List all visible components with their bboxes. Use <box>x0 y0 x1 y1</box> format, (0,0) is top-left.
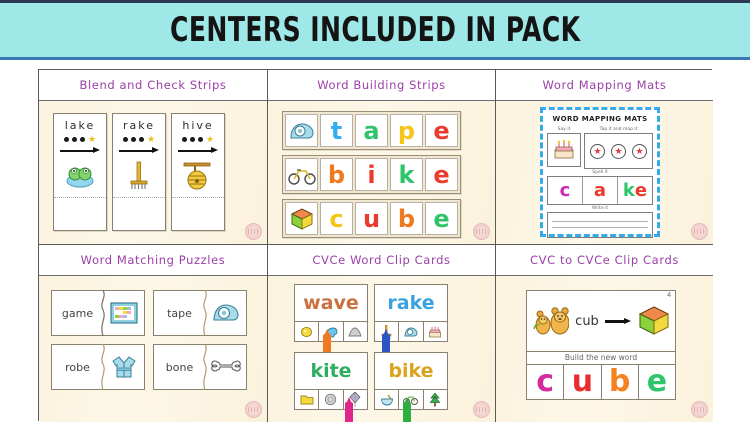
cell-preview: t a p e b i k e <box>268 101 495 244</box>
cell-header: Word Building Strips <box>268 70 495 101</box>
clip-options[interactable] <box>295 321 367 341</box>
letter: e <box>433 163 449 187</box>
clip-card-grid: wave rake <box>294 284 448 414</box>
letter: b <box>609 367 630 397</box>
watermark-logo <box>691 223 708 240</box>
watermark-logo <box>245 223 262 240</box>
puzzle-word-half[interactable]: game <box>51 290 103 336</box>
word-mapping-mat[interactable]: WORD MAPPING MATS Say it Tap it and map … <box>540 107 660 237</box>
tape-icon[interactable] <box>399 322 423 341</box>
mat-label-tap: Tap it and map it <box>584 127 653 132</box>
clip-card[interactable]: rake <box>374 284 448 346</box>
arrow-icon <box>60 147 100 154</box>
cell-preview: lake ★ rake ★ <box>39 101 267 244</box>
puzzle-cut-line <box>201 290 210 336</box>
letter: e <box>635 182 647 200</box>
beehive-icon <box>172 154 224 197</box>
cube-icon <box>637 304 671 338</box>
strip-word: hive <box>182 119 213 132</box>
letter: c <box>560 182 571 200</box>
puzzle-piece[interactable]: bone <box>153 344 247 390</box>
word-building-row[interactable]: b i k e <box>282 155 461 194</box>
letter-tile[interactable]: e <box>425 158 458 191</box>
arrow-icon <box>119 147 159 154</box>
letter: b <box>328 163 345 187</box>
cvc-base-word: cub <box>575 314 599 329</box>
cake-icon[interactable] <box>424 322 447 341</box>
blend-strip[interactable]: lake ★ <box>53 113 107 231</box>
puzzle-word: tape <box>167 307 192 320</box>
cell-title: Blend and Check Strips <box>80 78 227 92</box>
banner: CENTERS INCLUDED IN PACK <box>0 0 750 60</box>
letter: e <box>647 367 667 397</box>
letter-tile[interactable]: e <box>425 202 458 235</box>
cell-header: Word Mapping Mats <box>496 70 713 101</box>
mat-title: WORD MAPPING MATS <box>547 115 653 123</box>
puzzle-piece[interactable]: tape <box>153 290 247 336</box>
letter-box[interactable]: c <box>548 177 583 204</box>
cell-word-mapping-mats[interactable]: Word Mapping Mats WORD MAPPING MATS Say … <box>496 70 713 245</box>
cell-cvc-to-cvce-clip-cards[interactable]: CVC to CVCe Clip Cards 4 cub <box>496 245 713 422</box>
cell-preview: WORD MAPPING MATS Say it Tap it and map … <box>496 101 713 244</box>
cell-preview: game tape robe <box>39 276 267 422</box>
watermark-logo <box>245 401 262 418</box>
letter-tile[interactable]: e <box>425 114 458 147</box>
letter: a <box>594 182 606 200</box>
puzzle-cut-line <box>99 344 108 390</box>
letter-tile[interactable]: b <box>602 365 639 399</box>
word-building-strips: t a p e b i k e <box>282 111 461 238</box>
blend-strip[interactable]: rake ★ <box>112 113 166 231</box>
puzzle-word: robe <box>65 361 90 374</box>
tape-dispenser-icon <box>205 290 247 336</box>
cell-header: CVC to CVCe Clip Cards <box>496 245 713 276</box>
coin-icon[interactable] <box>319 390 343 409</box>
arrow-icon <box>605 318 631 324</box>
letter-tile[interactable]: c <box>527 365 564 399</box>
robe-icon <box>103 344 145 390</box>
hill-icon[interactable] <box>344 322 367 341</box>
cvc-to-cvce-card[interactable]: 4 cub Build the new word c u <box>526 290 676 400</box>
cvc-letter-tiles[interactable]: c u b e <box>526 365 676 400</box>
star-icon: ★ <box>206 135 214 144</box>
cell-preview: wave rake <box>268 276 495 422</box>
clothespin-peg[interactable] <box>403 402 411 422</box>
strip-word: lake <box>65 119 96 132</box>
cell-header: Word Matching Puzzles <box>39 245 267 276</box>
word-building-row[interactable]: t a p e <box>282 111 461 150</box>
cell-header: CVCe Word Clip Cards <box>268 245 495 276</box>
centers-grid: Blend and Check Strips lake ★ rake <box>38 69 712 421</box>
cell-title: Word Building Strips <box>317 78 446 92</box>
rake-icon <box>113 154 165 197</box>
letter-tile[interactable]: u <box>355 202 388 235</box>
card-number: 4 <box>667 292 671 299</box>
letter: p <box>398 119 415 143</box>
mat-write-lines[interactable] <box>547 212 653 238</box>
clip-options[interactable] <box>375 389 447 409</box>
tap-chips[interactable]: ★ ★ ★ <box>584 133 653 169</box>
letter-tile[interactable]: b <box>390 202 423 235</box>
letter: u <box>572 367 593 397</box>
puzzle-piece[interactable]: game <box>51 290 145 336</box>
letter: e <box>433 119 449 143</box>
frog-icon <box>54 154 106 197</box>
letter-tile[interactable]: p <box>390 114 423 147</box>
banner-title: CENTERS INCLUDED IN PACK <box>170 10 580 50</box>
clip-card[interactable]: kite <box>294 352 368 414</box>
cell-header: Blend and Check Strips <box>39 70 267 101</box>
letter-tile[interactable]: k <box>390 158 423 191</box>
word-building-row[interactable]: c u b e <box>282 199 461 238</box>
puzzle-piece[interactable]: robe <box>51 344 145 390</box>
blend-strips: lake ★ rake ★ <box>53 113 225 231</box>
puzzle-word-half[interactable]: bone <box>153 344 205 390</box>
letter: a <box>363 119 379 143</box>
puzzle-grid: game tape robe <box>51 290 247 390</box>
letter: k <box>623 182 635 200</box>
bicycle-icon <box>285 158 318 191</box>
sound-dots: ★ <box>64 135 96 144</box>
mat-spell-boxes[interactable]: c a ke <box>547 176 653 205</box>
letter-box[interactable]: a <box>583 177 618 204</box>
letter-tile[interactable]: i <box>355 158 388 191</box>
cell-title: Word Mapping Mats <box>543 78 667 92</box>
letter-tile[interactable]: u <box>564 365 601 399</box>
clip-word: bike <box>375 353 447 389</box>
cake-icon <box>547 133 581 167</box>
letter: u <box>363 207 380 231</box>
star-chip-icon: ★ <box>590 144 605 159</box>
cvc-card-top: 4 cub <box>526 290 676 352</box>
blend-strip[interactable]: hive ★ <box>171 113 225 231</box>
puzzle-word: game <box>62 307 93 320</box>
cell-title: Word Matching Puzzles <box>81 253 226 267</box>
letter-tile[interactable]: a <box>355 114 388 147</box>
cell-title: CVCe Word Clip Cards <box>312 253 450 267</box>
puzzle-cut-line <box>99 290 108 336</box>
arrow-icon <box>178 147 218 154</box>
clip-options[interactable] <box>295 389 367 409</box>
cell-word-matching-puzzles[interactable]: Word Matching Puzzles game tape <box>39 245 268 422</box>
letter: b <box>398 207 415 231</box>
letter-tile[interactable]: e <box>639 365 675 399</box>
clip-word: kite <box>295 353 367 389</box>
sound-dots: ★ <box>123 135 155 144</box>
cell-word-building-strips[interactable]: Word Building Strips t a p e <box>268 70 496 245</box>
clip-card[interactable]: wave <box>294 284 368 346</box>
star-icon: ★ <box>147 135 155 144</box>
cell-title: CVC to CVCe Clip Cards <box>530 253 679 267</box>
bear-cub-icon <box>531 303 569 339</box>
watermark-logo <box>691 401 708 418</box>
letter-box[interactable]: ke <box>618 177 652 204</box>
puzzle-word-half[interactable]: tape <box>153 290 205 336</box>
cell-preview: 4 cub Build the new word c u <box>496 276 713 422</box>
letter: t <box>331 119 342 143</box>
clip-word: wave <box>295 285 367 321</box>
board-game-icon <box>103 290 145 336</box>
sound-dots: ★ <box>182 135 214 144</box>
letter: e <box>433 207 449 231</box>
clothespin-peg[interactable] <box>345 402 353 422</box>
bowl-icon[interactable] <box>375 390 399 409</box>
letter: c <box>329 207 343 231</box>
cell-blend-and-check-strips[interactable]: Blend and Check Strips lake ★ rake <box>39 70 268 245</box>
tree-icon[interactable] <box>424 390 447 409</box>
cell-cvce-word-clip-cards[interactable]: CVCe Word Clip Cards wave <box>268 245 496 422</box>
star-icon: ★ <box>88 135 96 144</box>
mat-label-say: Say it <box>547 127 581 132</box>
letter: i <box>367 163 375 187</box>
poster: CENTERS INCLUDED IN PACK Blend and Check… <box>0 0 750 425</box>
letter: c <box>536 367 554 397</box>
clip-card[interactable]: bike <box>374 352 448 414</box>
mat-label-write: Write it <box>547 206 653 211</box>
star-chip-icon: ★ <box>632 144 647 159</box>
cube-icon <box>285 202 318 235</box>
letter-tile[interactable]: c <box>320 202 353 235</box>
tape-dispenser-icon <box>285 114 318 147</box>
star-chip-icon: ★ <box>611 144 626 159</box>
watermark-logo <box>473 223 490 240</box>
puzzle-word-half[interactable]: robe <box>51 344 103 390</box>
clip-word: rake <box>375 285 447 321</box>
lemon-icon[interactable] <box>295 322 319 341</box>
watermark-logo <box>473 401 490 418</box>
strip-word: rake <box>123 119 155 132</box>
bone-icon <box>205 344 247 390</box>
puzzle-word: bone <box>166 361 193 374</box>
letter: k <box>399 163 415 187</box>
letter-tile[interactable]: b <box>320 158 353 191</box>
puzzle-cut-line <box>201 344 210 390</box>
mat-label-spell: Spell it <box>547 170 653 175</box>
letter-tile[interactable]: t <box>320 114 353 147</box>
folder-icon[interactable] <box>295 390 319 409</box>
